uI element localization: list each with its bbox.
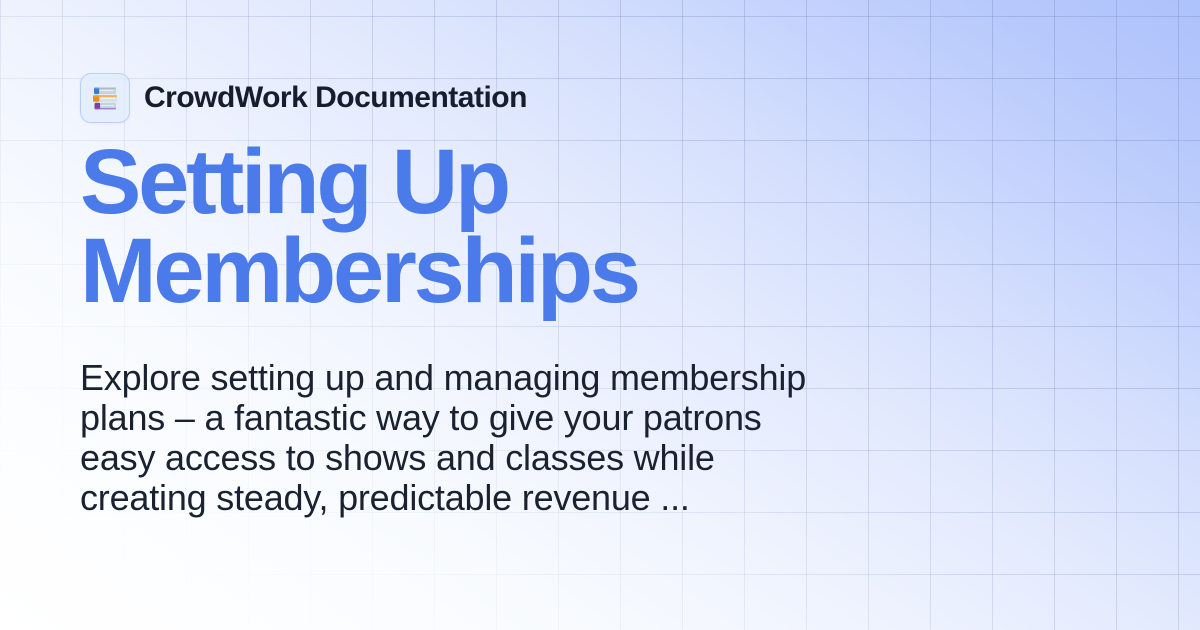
books-icon [80, 73, 130, 123]
brand-name: CrowdWork Documentation [144, 83, 527, 113]
brand-row: CrowdWork Documentation [80, 72, 1140, 124]
card-content: CrowdWork Documentation Setting Up Membe… [80, 72, 1140, 518]
og-card: CrowdWork Documentation Setting Up Membe… [0, 0, 1200, 630]
page-description: Explore setting up and managing membersh… [80, 358, 840, 518]
page-title: Setting Up Memberships [80, 138, 780, 316]
